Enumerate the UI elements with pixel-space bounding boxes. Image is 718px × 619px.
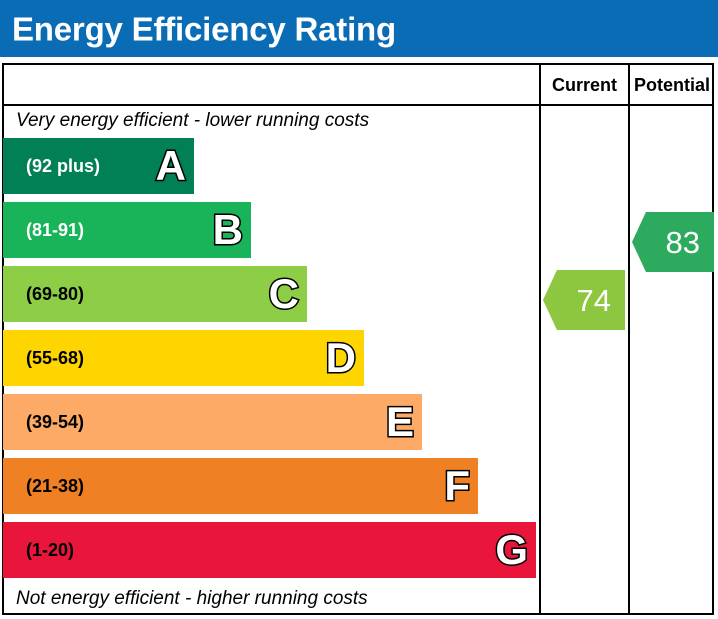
rating-band-c: (69-80)C: [3, 266, 307, 322]
rating-band-g: (1-20)G: [3, 522, 536, 578]
potential-rating-arrow: 83: [632, 212, 714, 272]
rating-band-b: (81-91)B: [3, 202, 251, 258]
band-range-label: (69-80): [26, 285, 84, 303]
band-letter-d: D: [326, 337, 356, 379]
band-range-label: (55-68): [26, 349, 84, 367]
header-divider: [2, 104, 714, 106]
current-rating-value: 74: [577, 285, 611, 316]
energy-efficiency-rating-chart: Energy Efficiency Rating Current Potenti…: [0, 0, 718, 619]
current-rating-arrow: 74: [543, 270, 625, 330]
band-range-label: (21-38): [26, 477, 84, 495]
potential-rating-value: 83: [666, 227, 700, 258]
band-letter-a: A: [156, 145, 186, 187]
band-range-label: (39-54): [26, 413, 84, 431]
rating-band-f: (21-38)F: [3, 458, 478, 514]
column-divider-potential: [628, 63, 630, 615]
band-letter-f: F: [444, 465, 470, 507]
band-range-label: (1-20): [26, 541, 74, 559]
band-range-label: (92 plus): [26, 157, 100, 175]
band-letter-e: E: [386, 401, 414, 443]
band-range-label: (81-91): [26, 221, 84, 239]
rating-band-e: (39-54)E: [3, 394, 422, 450]
caption-bottom: Not energy efficient - higher running co…: [16, 588, 368, 610]
chart-title-bar: Energy Efficiency Rating: [0, 0, 718, 57]
column-divider-current: [539, 63, 541, 615]
page-title: Energy Efficiency Rating: [12, 12, 396, 45]
column-header-potential: Potential: [630, 66, 714, 104]
column-header-current: Current: [541, 66, 628, 104]
rating-band-d: (55-68)D: [3, 330, 364, 386]
band-letter-c: C: [269, 273, 299, 315]
rating-band-a: (92 plus)A: [3, 138, 194, 194]
band-letter-g: G: [495, 529, 528, 571]
band-letter-b: B: [213, 209, 243, 251]
caption-top: Very energy efficient - lower running co…: [16, 110, 369, 132]
